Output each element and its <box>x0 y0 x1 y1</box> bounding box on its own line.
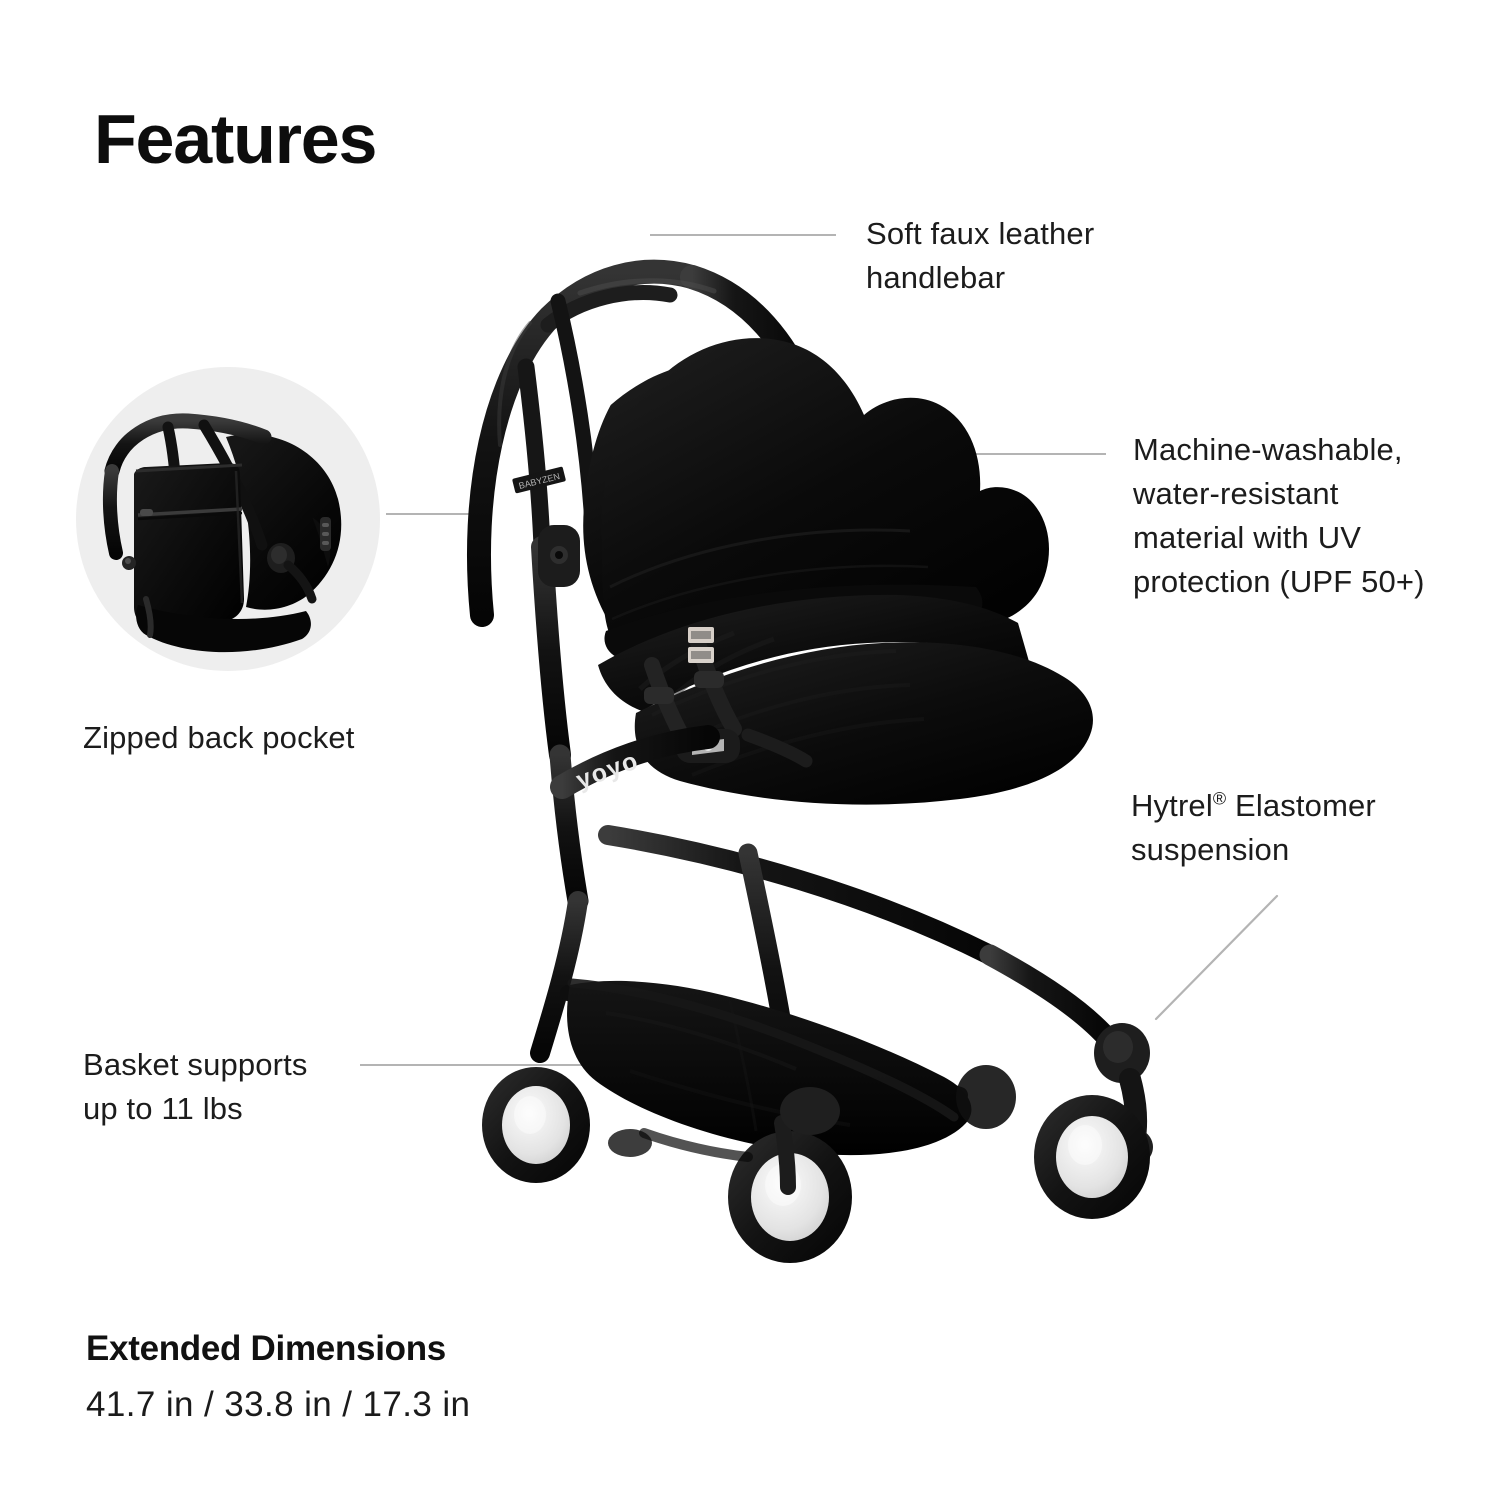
wheel-front-left <box>956 1065 1016 1129</box>
feature-diagram-page: Features <box>0 0 1500 1500</box>
extended-dimensions-heading: Extended Dimensions <box>86 1330 446 1369</box>
callout-label-basket: Basket supports up to 11 lbs <box>83 1043 383 1131</box>
wheel-front-right <box>1034 1095 1150 1219</box>
frame-hinge <box>538 525 580 587</box>
callout-label-pocket: Zipped back pocket <box>83 716 483 760</box>
stroller-product-image: BABYZEN <box>430 195 1220 1310</box>
zipped-back-pocket-inset-image <box>76 367 380 671</box>
page-title: Features <box>94 104 376 174</box>
wheel-rear-left <box>482 1067 590 1183</box>
extended-dimensions-value: 41.7 in / 33.8 in / 17.3 in <box>86 1386 470 1425</box>
inset-illustration <box>76 367 380 671</box>
